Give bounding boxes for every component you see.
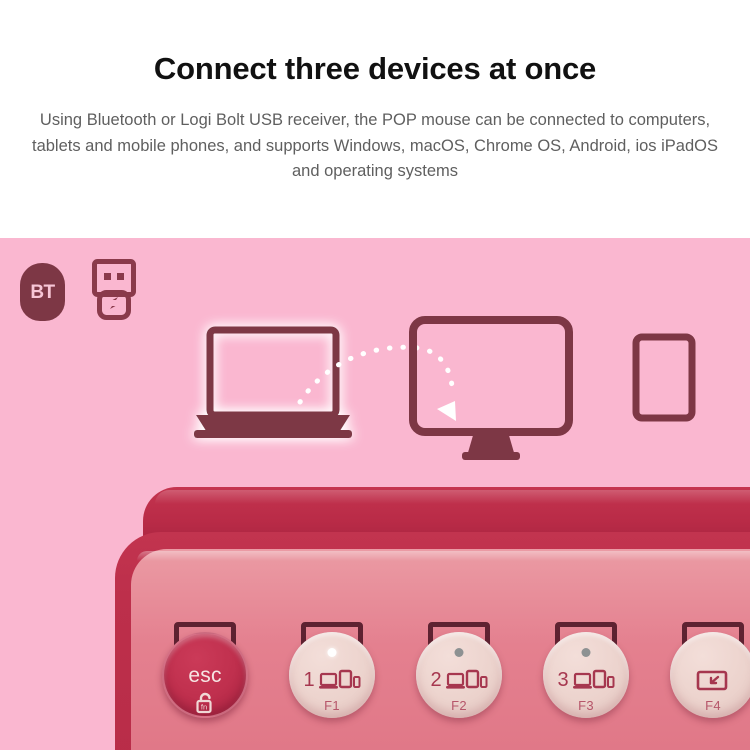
key-f2[interactable]: 2 F2 (416, 632, 502, 718)
key-esc[interactable]: esc fn (162, 632, 248, 718)
laptop-icon (194, 330, 352, 438)
key-f1-legend: 1 (289, 668, 375, 692)
key-f4-sublabel: F4 (670, 698, 750, 713)
easy-switch-devices-icon (319, 668, 361, 692)
key-f1-led (328, 648, 337, 657)
easy-switch-devices-icon (446, 668, 488, 692)
screen-action-icon (696, 668, 730, 692)
promo-page: Connect three devices at once Using Blue… (0, 0, 750, 750)
key-f2-sublabel: F2 (416, 698, 502, 713)
key-f3-led (582, 648, 591, 657)
key-f4-legend (670, 668, 750, 692)
page-subtitle: Using Bluetooth or Logi Bolt USB receive… (18, 108, 732, 185)
key-f2-led (455, 648, 464, 657)
easy-switch-devices-icon (573, 668, 615, 692)
connection-path (300, 347, 456, 421)
key-f4[interactable]: F4 (670, 632, 750, 718)
keyboard-illustration: esc fn 1 F1 (115, 487, 750, 750)
key-f3-sublabel: F3 (543, 698, 629, 713)
key-esc-label: esc (164, 664, 246, 688)
header-section: Connect three devices at once Using Blue… (0, 0, 750, 238)
fn-lock-icon: fn (194, 692, 216, 721)
device-illustration-group (0, 238, 750, 518)
key-f3-legend: 3 (543, 668, 629, 692)
key-f1-number: 1 (303, 670, 314, 690)
key-f1-sublabel: F1 (289, 698, 375, 713)
keyboard-deck-highlight (137, 551, 750, 561)
svg-text:fn: fn (201, 703, 207, 712)
key-f3-number: 3 (557, 670, 568, 690)
key-f2-legend: 2 (416, 668, 502, 692)
page-title: Connect three devices at once (18, 52, 732, 86)
keyboard-top-highlight (155, 490, 750, 504)
key-f2-number: 2 (430, 670, 441, 690)
monitor-icon (413, 320, 569, 460)
key-f3[interactable]: 3 F3 (543, 632, 629, 718)
phone-icon (636, 337, 692, 418)
key-f1[interactable]: 1 F1 (289, 632, 375, 718)
